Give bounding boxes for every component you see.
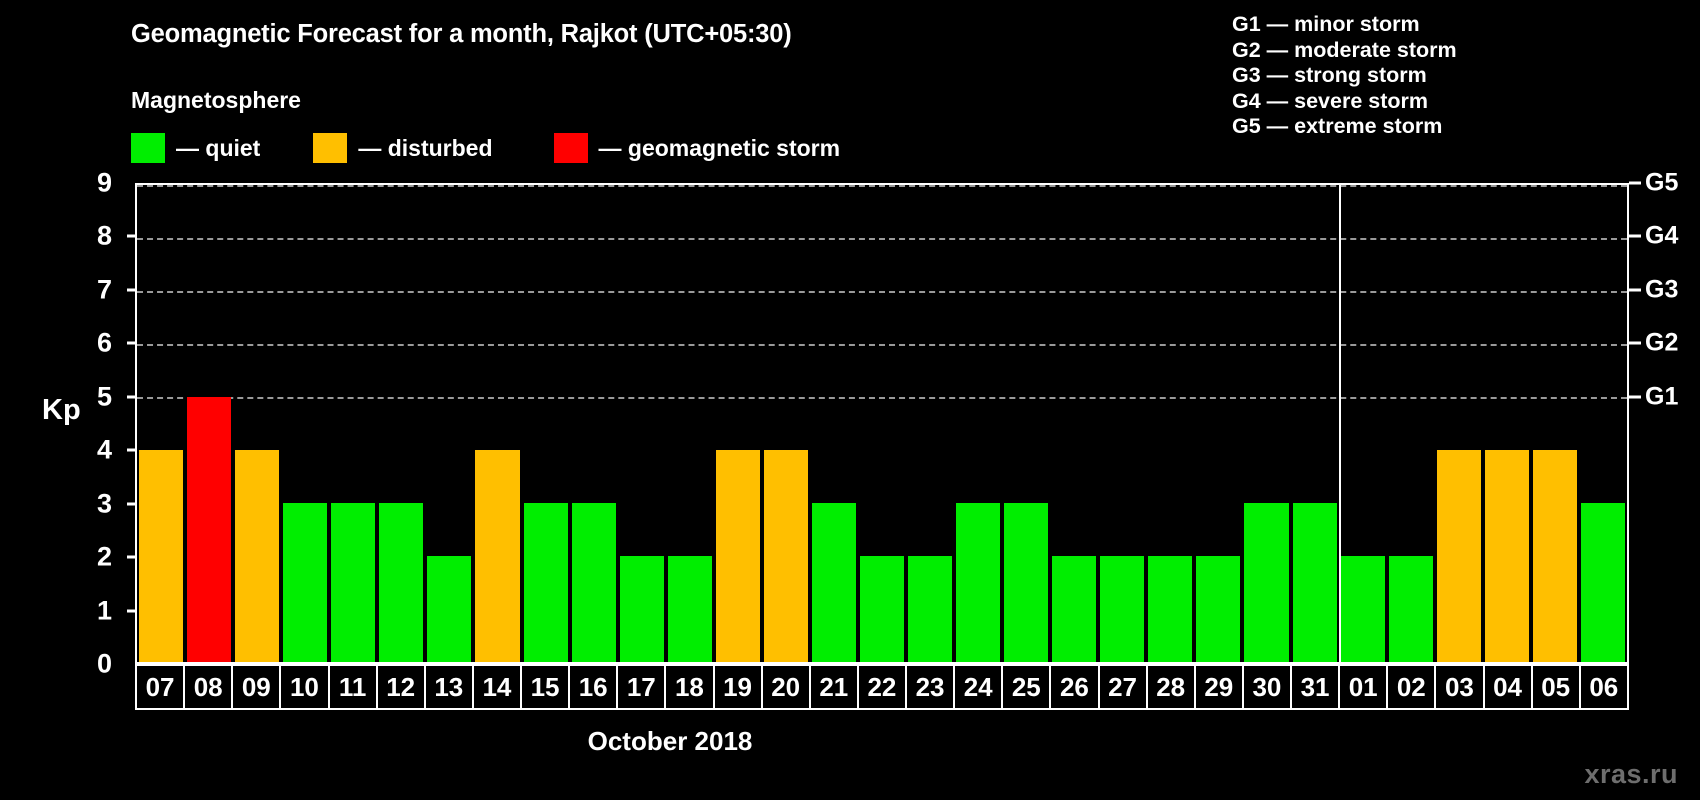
bar-19 (716, 450, 760, 662)
date-label-04: 04 (1485, 666, 1533, 708)
bar-22 (860, 556, 904, 662)
bar-21 (812, 503, 856, 662)
bar-slot (185, 185, 233, 662)
g-tick-label-G1: G1 (1645, 382, 1678, 411)
g-tick-label-G4: G4 (1645, 222, 1678, 251)
date-label-24: 24 (955, 666, 1003, 708)
legend-label-quiet: — quiet (176, 135, 260, 162)
y-tick-label-4: 4 (72, 435, 112, 466)
bar-slot (329, 185, 377, 662)
bar-12 (379, 503, 423, 662)
bar-slot (810, 185, 858, 662)
bar-slot (1002, 185, 1050, 662)
g-scale-line-1: G1 — minor storm (1232, 12, 1457, 38)
date-label-22: 22 (859, 666, 907, 708)
bar-05 (1533, 450, 1577, 662)
y-tick-label-2: 2 (72, 542, 112, 573)
bar-slot (522, 185, 570, 662)
legend-item-geomagnetic-storm: — geomagnetic storm (554, 133, 841, 163)
date-label-06: 06 (1581, 666, 1627, 708)
g-tick-mark-G4 (1629, 235, 1641, 238)
bar-slot (1483, 185, 1531, 662)
bar-slot (1435, 185, 1483, 662)
bar-slot (1531, 185, 1579, 662)
g-scale-line-4: G4 — severe storm (1232, 89, 1457, 115)
g-tick-mark-G2 (1629, 342, 1641, 345)
date-label-07: 07 (137, 666, 185, 708)
date-label-17: 17 (618, 666, 666, 708)
bar-slot (377, 185, 425, 662)
g-tick-mark-G3 (1629, 288, 1641, 291)
bar-18 (668, 556, 712, 662)
date-label-20: 20 (763, 666, 811, 708)
date-label-30: 30 (1244, 666, 1292, 708)
bar-06 (1581, 503, 1625, 662)
bar-14 (475, 450, 519, 662)
bar-slot (1098, 185, 1146, 662)
bar-28 (1148, 556, 1192, 662)
bar-08 (187, 397, 231, 662)
date-label-27: 27 (1100, 666, 1148, 708)
date-label-10: 10 (281, 666, 329, 708)
bar-15 (524, 503, 568, 662)
date-label-21: 21 (811, 666, 859, 708)
bar-series (137, 185, 1627, 662)
bar-20 (764, 450, 808, 662)
bar-02 (1389, 556, 1433, 662)
date-label-14: 14 (474, 666, 522, 708)
bar-slot (1387, 185, 1435, 662)
date-label-26: 26 (1051, 666, 1099, 708)
bar-09 (235, 450, 279, 662)
y-tick-label-0: 0 (72, 649, 112, 680)
date-label-23: 23 (907, 666, 955, 708)
page-title: Geomagnetic Forecast for a month, Rajkot… (131, 20, 792, 49)
g-tick-mark-G5 (1629, 182, 1641, 185)
bar-slot (1579, 185, 1627, 662)
bar-slot (137, 185, 185, 662)
plot-inner (137, 185, 1627, 662)
g-tick-label-G5: G5 (1645, 169, 1678, 198)
bar-29 (1196, 556, 1240, 662)
bar-03 (1437, 450, 1481, 662)
bar-slot (570, 185, 618, 662)
date-label-12: 12 (378, 666, 426, 708)
legend-label-geomagnetic-storm: — geomagnetic storm (599, 135, 841, 162)
bar-24 (956, 503, 1000, 662)
date-label-11: 11 (330, 666, 378, 708)
bar-slot (1194, 185, 1242, 662)
legend-swatch-geomagnetic-storm (554, 133, 588, 163)
g-tick-label-G3: G3 (1645, 275, 1678, 304)
chart-page: Geomagnetic Forecast for a month, Rajkot… (0, 0, 1700, 800)
watermark: xras.ru (1584, 759, 1678, 790)
date-label-05: 05 (1533, 666, 1581, 708)
g-tick-mark-G1 (1629, 395, 1641, 398)
date-label-18: 18 (666, 666, 714, 708)
bar-slot (714, 185, 762, 662)
bar-16 (572, 503, 616, 662)
bar-slot (1291, 185, 1339, 662)
bar-10 (283, 503, 327, 662)
bar-slot (233, 185, 281, 662)
date-label-03: 03 (1436, 666, 1484, 708)
bar-17 (620, 556, 664, 662)
y-tick-label-5: 5 (72, 381, 112, 412)
g-scale-line-3: G3 — strong storm (1232, 63, 1457, 89)
bar-01 (1341, 556, 1385, 662)
bar-slot (1146, 185, 1194, 662)
legend-item-disturbed: — disturbed (313, 133, 492, 163)
bar-27 (1100, 556, 1144, 662)
plot-area (135, 183, 1629, 664)
magnetosphere-label: Magnetosphere (131, 87, 301, 114)
bar-13 (427, 556, 471, 662)
bar-slot (762, 185, 810, 662)
y-tick-label-8: 8 (72, 221, 112, 252)
date-label-08: 08 (185, 666, 233, 708)
bar-slot (906, 185, 954, 662)
bar-07 (139, 450, 183, 662)
bar-slot (473, 185, 521, 662)
date-label-28: 28 (1148, 666, 1196, 708)
legend-item-quiet: — quiet (131, 133, 260, 163)
y-tick-label-7: 7 (72, 274, 112, 305)
date-label-29: 29 (1196, 666, 1244, 708)
date-label-15: 15 (522, 666, 570, 708)
bar-slot (425, 185, 473, 662)
bar-slot (954, 185, 1002, 662)
y-tick-label-3: 3 (72, 488, 112, 519)
bar-25 (1004, 503, 1048, 662)
bar-23 (908, 556, 952, 662)
month-label: October 2018 (0, 726, 1340, 757)
date-label-13: 13 (426, 666, 474, 708)
g-scale-line-2: G2 — moderate storm (1232, 38, 1457, 64)
date-label-31: 31 (1292, 666, 1340, 708)
date-label-02: 02 (1388, 666, 1436, 708)
date-label-25: 25 (1003, 666, 1051, 708)
date-axis: 0708091011121314151617181920212223242526… (135, 664, 1629, 710)
bar-11 (331, 503, 375, 662)
date-label-19: 19 (715, 666, 763, 708)
legend-swatch-quiet (131, 133, 165, 163)
y-tick-label-9: 9 (72, 168, 112, 199)
bar-slot (1339, 185, 1387, 662)
y-tick-label-1: 1 (72, 595, 112, 626)
bar-slot (281, 185, 329, 662)
date-label-01: 01 (1340, 666, 1388, 708)
legend: — quiet— disturbed— geomagnetic storm (131, 133, 840, 163)
date-label-16: 16 (570, 666, 618, 708)
legend-swatch-disturbed (313, 133, 347, 163)
month-divider (1339, 185, 1341, 662)
bar-26 (1052, 556, 1096, 662)
g-scale-legend: G1 — minor stormG2 — moderate stormG3 — … (1232, 12, 1457, 140)
bar-31 (1293, 503, 1337, 662)
bar-slot (618, 185, 666, 662)
g-scale-line-5: G5 — extreme storm (1232, 114, 1457, 140)
bar-30 (1244, 503, 1288, 662)
bar-slot (1050, 185, 1098, 662)
g-tick-label-G2: G2 (1645, 329, 1678, 358)
bar-slot (1242, 185, 1290, 662)
legend-label-disturbed: — disturbed (358, 135, 492, 162)
bar-slot (858, 185, 906, 662)
bar-slot (666, 185, 714, 662)
bar-04 (1485, 450, 1529, 662)
date-label-09: 09 (233, 666, 281, 708)
y-tick-label-6: 6 (72, 328, 112, 359)
